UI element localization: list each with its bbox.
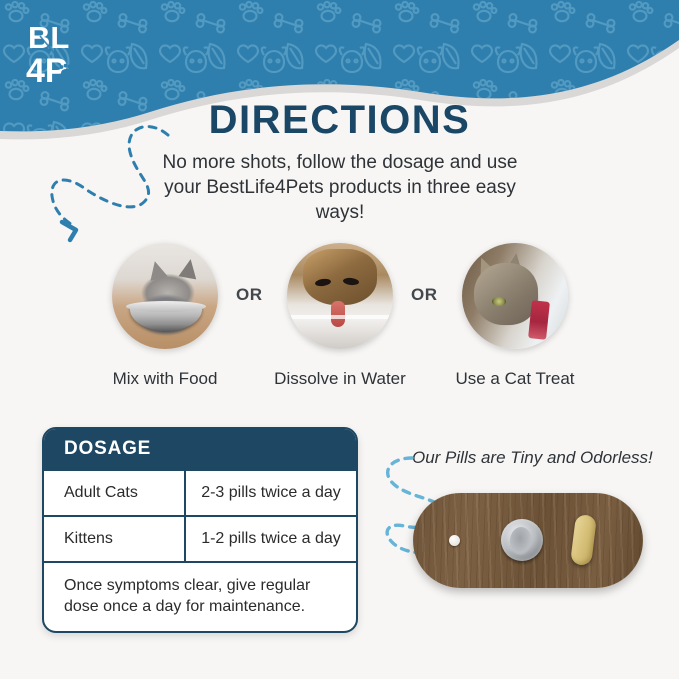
dosage-amount-adult-cats: 2-3 pills twice a day [184, 471, 356, 515]
table-row: Adult Cats 2-3 pills twice a day [44, 469, 356, 515]
dosage-animal-adult-cats: Adult Cats [44, 471, 184, 515]
logo-text-bl: BL [28, 20, 69, 55]
separator-or-1: OR [236, 285, 263, 305]
dime-coin-icon [501, 519, 543, 561]
arrow-head [62, 222, 76, 240]
dosage-amount-kittens: 1-2 pills twice a day [184, 517, 356, 561]
method-label-3: Use a Cat Treat [445, 369, 585, 389]
page-subtitle: No more shots, follow the dosage and use… [160, 150, 520, 225]
dosage-note: Once symptoms clear, give regular dose o… [44, 561, 356, 631]
method-dissolve-in-water[interactable]: Dissolve in Water [270, 243, 410, 389]
method-image-3 [462, 243, 568, 349]
method-label-1: Mix with Food [95, 369, 235, 389]
brand-logo[interactable]: BL 4P [26, 18, 86, 90]
method-use-a-cat-treat[interactable]: Use a Cat Treat [445, 243, 585, 389]
large-capsule-icon [570, 514, 597, 566]
method-label-2: Dissolve in Water [270, 369, 410, 389]
swirl-arrow-icon [40, 110, 190, 250]
logo-text-4p: 4P [26, 52, 68, 90]
methods-row: Mix with Food OR Dissolve in Water OR Us… [0, 243, 679, 393]
method-image-2 [287, 243, 393, 349]
method-image-1 [112, 243, 218, 349]
table-row: Kittens 1-2 pills twice a day [44, 515, 356, 561]
tiny-pill-icon [449, 535, 460, 546]
dosage-animal-kittens: Kittens [44, 517, 184, 561]
pill-size-comparison-board [413, 493, 643, 588]
directions-infographic: BL 4P DIRECTIONS No more shots, follow t… [0, 0, 679, 679]
method-mix-with-food[interactable]: Mix with Food [95, 243, 235, 389]
separator-or-2: OR [411, 285, 438, 305]
dosage-card: DOSAGE Adult Cats 2-3 pills twice a day … [42, 427, 358, 633]
dosage-heading: DOSAGE [44, 429, 356, 469]
